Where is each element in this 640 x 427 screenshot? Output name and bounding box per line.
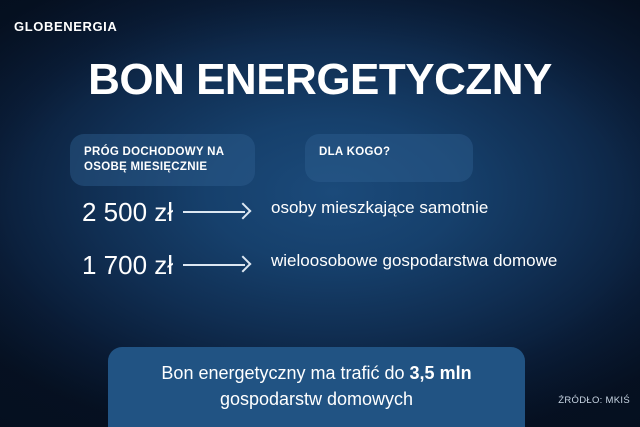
arrow-head [235, 203, 252, 220]
page-title: BON ENERGETYCZNY [0, 57, 640, 103]
arrow-head [235, 256, 252, 273]
table-row: 2 500 zł osoby mieszkające samotnie [0, 196, 640, 228]
threshold-rows: 2 500 zł osoby mieszkające samotnie 1 70… [0, 196, 640, 302]
column-header-threshold: PRÓG DOCHODOWY NA OSOBĘ MIESIĘCZNIE [70, 134, 255, 186]
arrow-right-icon [175, 249, 271, 281]
source-attribution: ŹRÓDŁO: MKIŚ [558, 395, 630, 406]
banner-text-before: Bon energetyczny ma trafić do [161, 363, 409, 383]
banner-text-after: gospodarstw domowych [220, 389, 413, 409]
amount-value: 1 700 zł [0, 249, 175, 281]
infographic-canvas: GLOBENERGIA BON ENERGETYCZNY PRÓG DOCHOD… [0, 0, 640, 427]
beneficiary-description: wieloosobowe gospodarstwa domowe [271, 249, 640, 272]
column-header-who: DLA KOGO? [305, 134, 473, 182]
summary-banner: Bon energetyczny ma trafić do 3,5 mln go… [108, 347, 525, 427]
table-row: 1 700 zł wieloosobowe gospodarstwa domow… [0, 249, 640, 281]
arrow-right-icon [175, 196, 271, 228]
beneficiary-description: osoby mieszkające samotnie [271, 196, 640, 219]
brand-logo: GLOBENERGIA [14, 19, 117, 34]
amount-value: 2 500 zł [0, 196, 175, 228]
banner-highlight: 3,5 mln [410, 363, 472, 383]
